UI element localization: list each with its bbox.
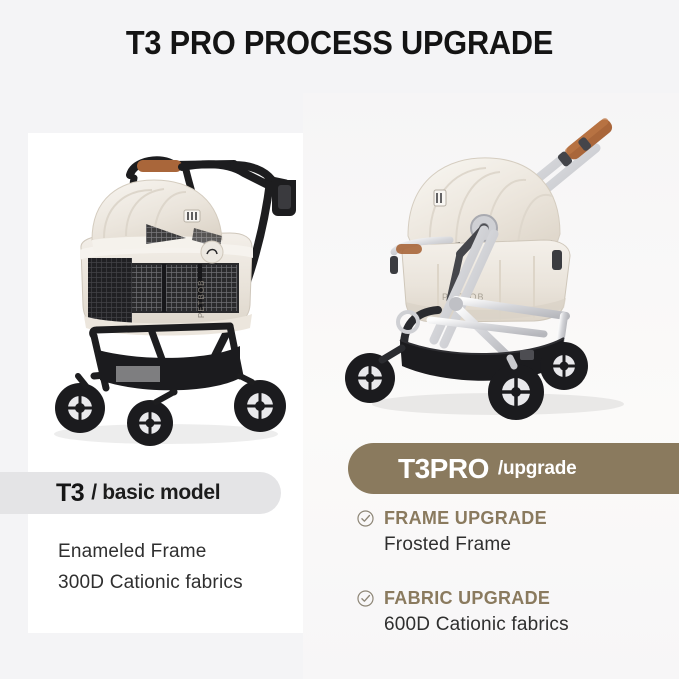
right-product-image: PETBOB (338, 104, 650, 424)
check-circle-icon (356, 509, 375, 528)
right-product-badge: T3PRO /upgrade (348, 443, 679, 494)
left-spec-line: Enameled Frame (58, 536, 308, 567)
left-badge-qualifier: / basic model (91, 481, 220, 505)
upgrade-heading: FRAME UPGRADE (356, 508, 676, 529)
right-badge-model: T3PRO (398, 453, 489, 485)
check-circle-icon (356, 589, 375, 608)
upgrade-heading: FABRIC UPGRADE (356, 588, 676, 609)
left-product-specs: Enameled Frame 300D Cationic fabrics (58, 536, 308, 598)
upgrade-title: FRAME UPGRADE (384, 508, 547, 529)
left-spec-line: 300D Cationic fabrics (58, 567, 308, 598)
left-product-badge: T3 / basic model (0, 472, 281, 514)
svg-text:PETBOB: PETBOB (197, 280, 206, 318)
left-product-image: PETBOB (34, 140, 302, 450)
product-comparison-infographic: T3 PRO PROCESS UPGRADE (0, 0, 679, 679)
upgrade-description: 600D Cationic fabrics (384, 614, 676, 636)
right-badge-qualifier: /upgrade (498, 458, 577, 480)
upgrade-description: Frosted Frame (384, 534, 676, 556)
left-badge-model: T3 (56, 479, 84, 508)
upgrade-item-fabric: FABRIC UPGRADE 600D Cationic fabrics (356, 588, 676, 636)
upgrade-title: FABRIC UPGRADE (384, 588, 550, 609)
upgrade-item-frame: FRAME UPGRADE Frosted Frame (356, 508, 676, 556)
page-title: T3 PRO PROCESS UPGRADE (24, 24, 655, 62)
